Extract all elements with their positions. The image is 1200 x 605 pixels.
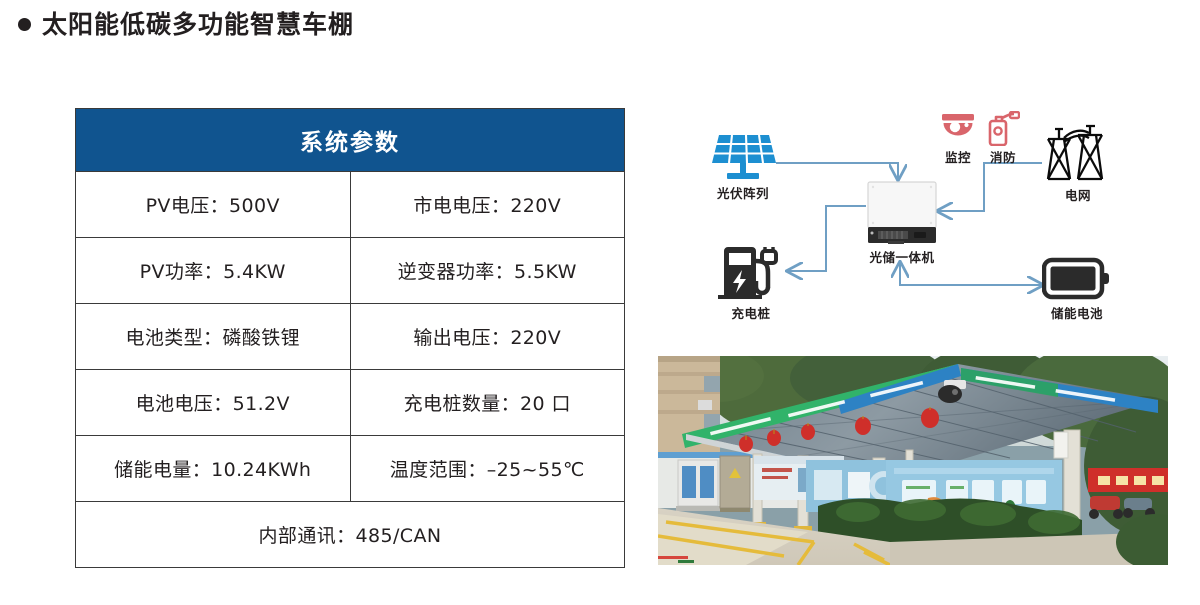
- carport-photo: [658, 356, 1168, 565]
- solar-panel-icon: [708, 133, 778, 181]
- node-grid: 电网: [1042, 121, 1108, 183]
- cell-pv-power: PV功率：5.4KW: [76, 238, 351, 304]
- node-monitoring: 监控: [940, 113, 976, 146]
- node-label-charger: 充电桩: [718, 303, 784, 322]
- hybrid-inverter-icon: [866, 181, 938, 245]
- flow-inverter-to-charger: [788, 206, 866, 271]
- power-pylon-icon: [1042, 121, 1108, 183]
- cell-inverter-power: 逆变器功率：5.5KW: [350, 238, 625, 304]
- flow-grid-to-inverter: [938, 163, 1042, 211]
- cell-mains-voltage: 市电电压：220V: [350, 172, 625, 238]
- node-label-inverter: 光储一体机: [862, 247, 942, 266]
- node-inverter: 光储一体机: [866, 181, 938, 245]
- cell-charger-count: 充电桩数量：20 口: [350, 370, 625, 436]
- cell-battery-type: 电池类型：磷酸铁锂: [76, 304, 351, 370]
- cell-temperature-range: 温度范围：–25~55℃: [350, 436, 625, 502]
- node-pv-array: 光伏阵列: [708, 133, 778, 181]
- table-row: 电池类型：磷酸铁锂 输出电压：220V: [76, 304, 625, 370]
- table-row: 电池电压：51.2V 充电桩数量：20 口: [76, 370, 625, 436]
- cell-storage-capacity: 储能电量：10.24KWh: [76, 436, 351, 502]
- page-title-text: 太阳能低碳多功能智慧车棚: [42, 12, 354, 37]
- cell-internal-communication: 内部通讯：485/CAN: [76, 502, 625, 568]
- cell-pv-voltage: PV电压：500V: [76, 172, 351, 238]
- flow-battery-to-inverter: [900, 263, 1042, 285]
- node-battery: 储能电池: [1042, 257, 1112, 301]
- page-title: 太阳能低碳多功能智慧车棚: [18, 12, 354, 37]
- node-label-fire: 消防: [983, 147, 1023, 166]
- table-header-title: 系统参数: [76, 109, 625, 172]
- node-label-pv-array: 光伏阵列: [708, 183, 778, 202]
- flow-pv-to-inverter: [776, 163, 898, 179]
- cell-output-voltage: 输出电压：220V: [350, 304, 625, 370]
- node-label-grid: 电网: [1048, 185, 1108, 204]
- bullet-dot-icon: [18, 18, 31, 31]
- cctv-camera-icon: [940, 113, 976, 146]
- node-fire: 消防: [986, 111, 1020, 146]
- table-row: 内部通讯：485/CAN: [76, 502, 625, 568]
- cell-battery-voltage: 电池电压：51.2V: [76, 370, 351, 436]
- system-parameters-table: 系统参数 PV电压：500V 市电电压：220V PV功率：5.4KW 逆变器功…: [75, 108, 625, 568]
- fire-extinguisher-icon: [986, 111, 1020, 146]
- battery-icon: [1042, 257, 1112, 301]
- ev-charger-icon: [718, 245, 784, 301]
- node-label-battery: 储能电池: [1042, 303, 1112, 322]
- system-flow-diagram: 光伏阵列 监控 消防: [650, 105, 1190, 350]
- table-row: PV功率：5.4KW 逆变器功率：5.5KW: [76, 238, 625, 304]
- table-row: PV电压：500V 市电电压：220V: [76, 172, 625, 238]
- table-row: 储能电量：10.24KWh 温度范围：–25~55℃: [76, 436, 625, 502]
- node-label-monitoring: 监控: [938, 147, 978, 166]
- node-charger: 充电桩: [718, 245, 784, 301]
- table-header-row: 系统参数: [76, 109, 625, 172]
- carport-photo-illustration: [658, 356, 1168, 565]
